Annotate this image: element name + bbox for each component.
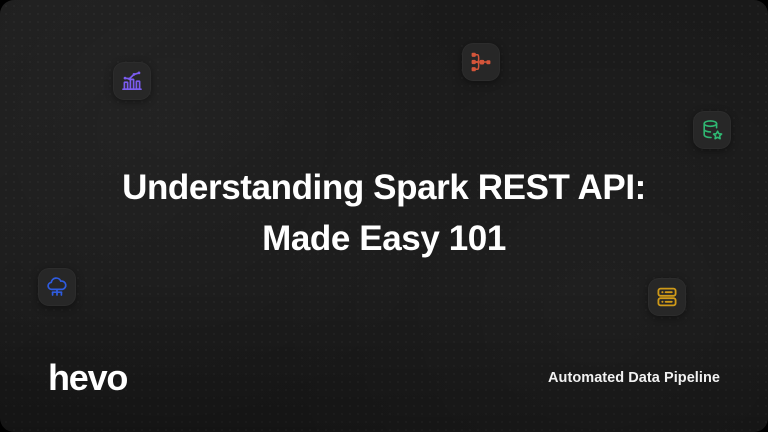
page-title: Understanding Spark REST API: Made Easy … [0,162,768,264]
tagline: Automated Data Pipeline [548,371,720,386]
footer: hevo Automated Data Pipeline [0,336,768,432]
icon-tile-cloud-network [38,268,76,306]
slide-canvas: Understanding Spark REST API: Made Easy … [0,0,768,432]
node-graph-icon [469,50,493,74]
icon-tile-server-stack [648,278,686,316]
icon-tile-node-graph [462,43,500,81]
icon-tile-bar-chart [113,62,151,100]
icon-tile-database-star [693,111,731,149]
database-star-icon [700,118,724,142]
bar-chart-icon [120,69,144,93]
server-stack-icon [655,285,679,309]
cloud-network-icon [45,275,69,299]
hevo-logo: hevo [48,360,127,396]
